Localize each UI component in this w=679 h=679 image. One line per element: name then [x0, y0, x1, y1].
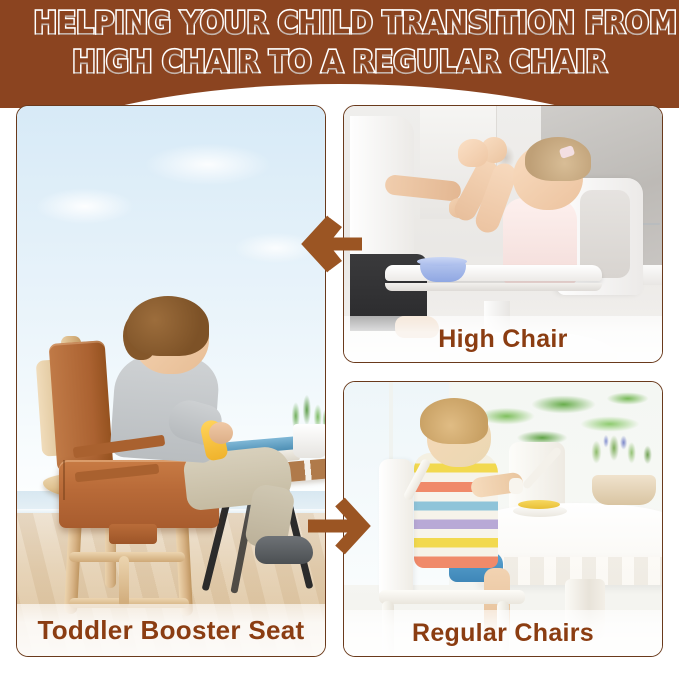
title-line-2: HIGH CHAIR TO A REGULAR CHAIR	[34, 43, 646, 82]
panel-toddler-booster-seat[interactable]: Toddler Booster Seat	[16, 105, 326, 657]
plant-leaves	[287, 388, 325, 428]
caption-band-booster: Toddler Booster Seat	[17, 604, 325, 656]
baby-hand-near	[458, 139, 488, 167]
toddler-hair	[127, 296, 209, 356]
booster-strap-tab	[109, 524, 157, 544]
dining-food	[518, 500, 560, 509]
chair-rung-vertical	[119, 556, 129, 608]
basket-plant-leaves	[582, 431, 662, 465]
boy-hair	[420, 398, 488, 444]
booster-seam	[63, 460, 65, 500]
caption-text-regular-chairs: Regular Chairs	[412, 619, 594, 648]
caption-text-high-chair: High Chair	[438, 325, 567, 354]
high-chair-tray	[385, 265, 601, 281]
boy-sleeve-cuff	[509, 478, 523, 494]
blue-bowl-rim	[417, 257, 467, 266]
near-dining-chair-back	[379, 459, 413, 601]
toddler-hand	[209, 422, 233, 444]
photo-toddler-booster-seat: Toddler Booster Seat	[17, 106, 325, 656]
caption-text-booster: Toddler Booster Seat	[37, 615, 304, 646]
baby-hair	[525, 137, 591, 181]
arrow-left-icon	[300, 214, 366, 274]
panel-high-chair[interactable]: High Chair	[343, 105, 663, 363]
woven-basket	[592, 475, 656, 505]
photo-regular-chairs: Regular Chairs	[344, 382, 662, 656]
photo-high-chair: High Chair	[344, 106, 662, 362]
arrow-right-icon	[302, 496, 372, 556]
panel-regular-chairs[interactable]: Regular Chairs	[343, 381, 663, 657]
infographic-root: HELPING YOUR CHILD TRANSITION FROM A HIG…	[0, 0, 679, 679]
high-chair-tray-lip	[385, 283, 601, 291]
plant-pot	[293, 424, 325, 458]
caption-band-high-chair: High Chair	[344, 316, 662, 362]
page-title: HELPING YOUR CHILD TRANSITION FROM A HIG…	[0, 4, 679, 82]
caption-band-regular-chairs: Regular Chairs	[344, 610, 662, 656]
title-line-1: HELPING YOUR CHILD TRANSITION FROM A	[34, 4, 646, 43]
